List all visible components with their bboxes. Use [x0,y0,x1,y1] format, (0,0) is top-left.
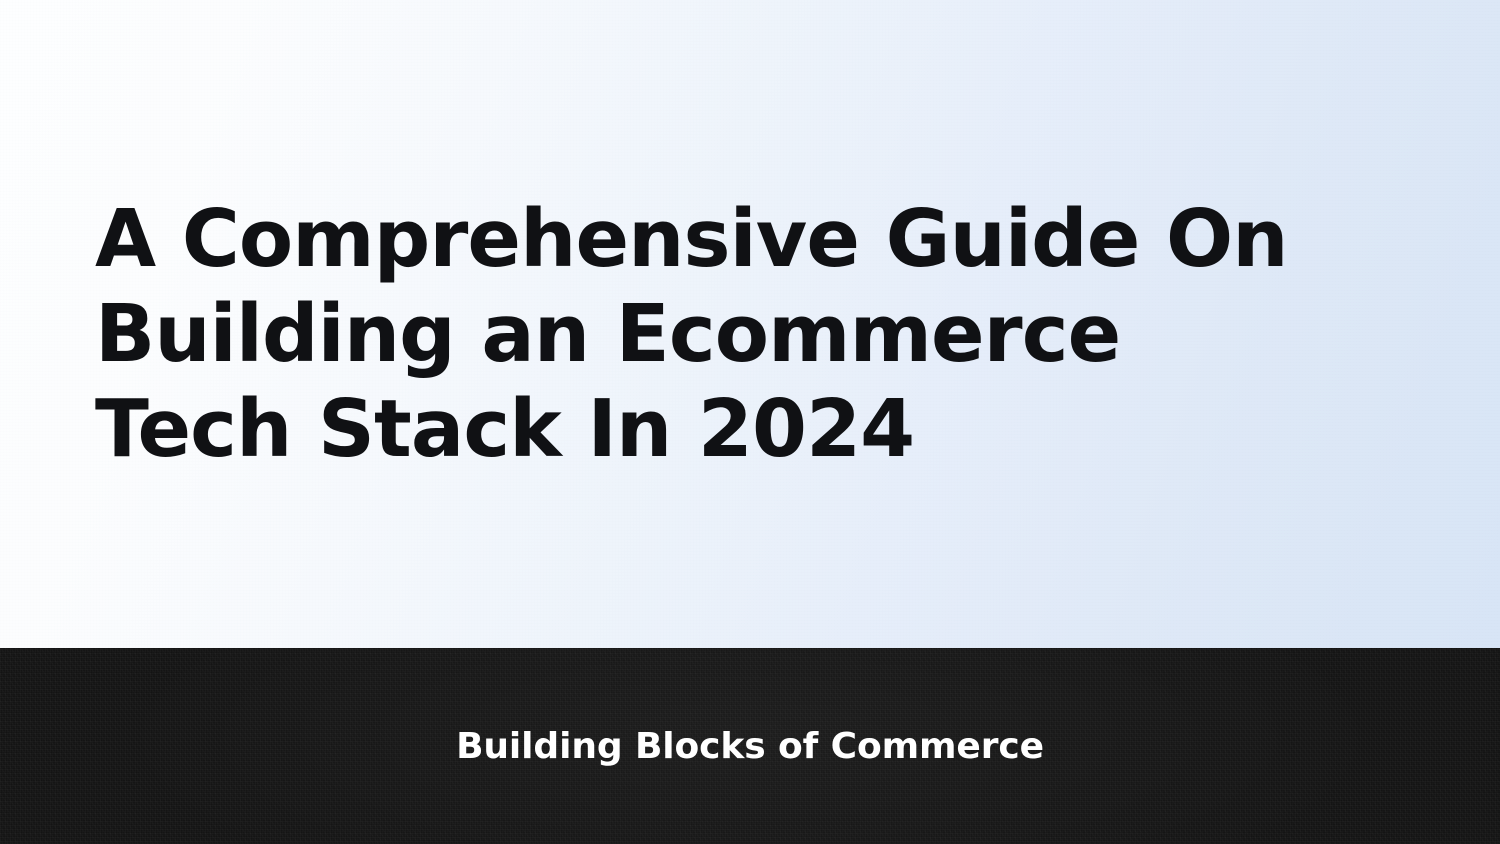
presentation-title-slide: A Comprehensive Guide On Building an Eco… [0,0,1500,844]
title-line-3: Tech Stack In 2024 [95,382,1345,477]
title-line-2: Building an Ecommerce [95,287,1345,382]
title-line-1: A Comprehensive Guide On [95,192,1345,287]
footer-label: Building Blocks of Commerce [0,648,1500,844]
slide-title: A Comprehensive Guide On Building an Eco… [95,192,1345,477]
footer-band: Building Blocks of Commerce [0,648,1500,844]
